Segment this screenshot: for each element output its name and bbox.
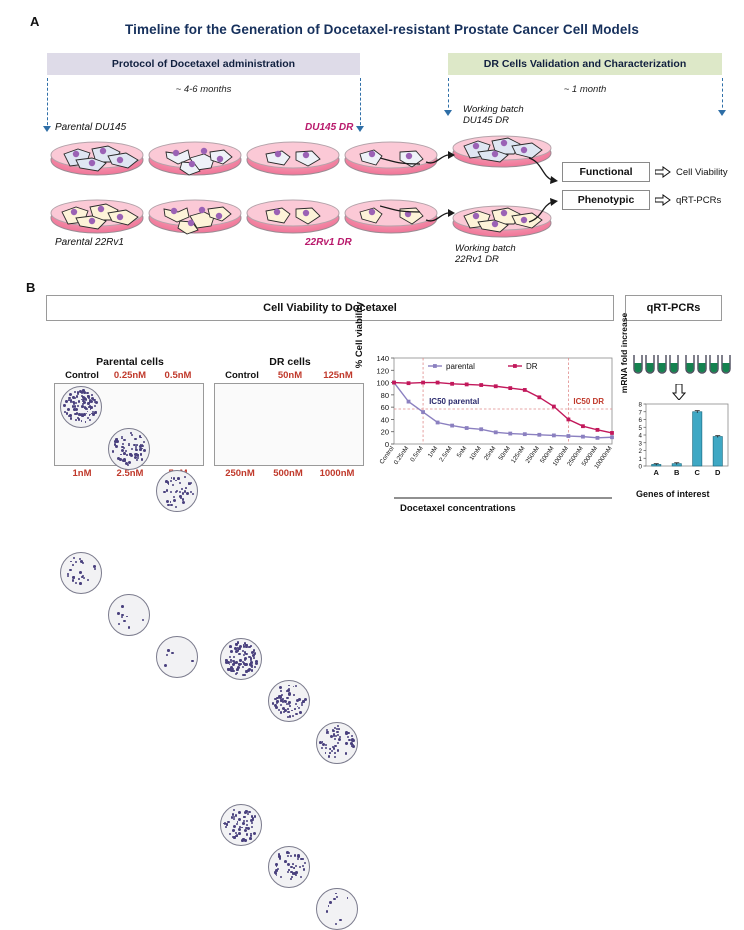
qrt-pcr-tubes-icon bbox=[630, 352, 732, 382]
group-title-dr: DR cells bbox=[218, 356, 362, 368]
svg-text:1: 1 bbox=[639, 456, 643, 463]
label-parental-bot-2: 5nM bbox=[154, 468, 202, 479]
label-dr-bot-2: 1000nM bbox=[312, 468, 362, 479]
svg-text:IC50 DR: IC50 DR bbox=[573, 397, 604, 406]
cell-viability-result: Cell Viability bbox=[676, 167, 728, 178]
colony-dish bbox=[60, 552, 102, 594]
svg-text:3: 3 bbox=[639, 440, 643, 447]
svg-text:A: A bbox=[654, 468, 660, 477]
band-protocol: Protocol of Docetaxel administration bbox=[47, 53, 360, 75]
working-batch-du145-line1: Working batch bbox=[463, 104, 524, 115]
cell-viability-chart-svg: 020406080100120140parentalDRIC50 parenta… bbox=[368, 352, 618, 517]
svg-text:80: 80 bbox=[381, 391, 389, 400]
svg-text:25nM: 25nM bbox=[483, 445, 498, 462]
section-qrt-pcrs: qRT-PCRs bbox=[625, 295, 722, 321]
label-dr-bot-1: 500nM bbox=[264, 468, 312, 479]
qrt-pcr-bar-chart: 012345678ABCD bbox=[628, 400, 734, 490]
phenotypic-fat-arrow-icon bbox=[655, 194, 671, 206]
colony-dish bbox=[316, 888, 358, 930]
flow-arrows bbox=[424, 140, 584, 240]
svg-text:125nM: 125nM bbox=[510, 445, 527, 465]
label-parental-bot-1: 2.5nM bbox=[106, 468, 154, 479]
line-chart-xlabel: Docetaxel concentrations bbox=[400, 503, 516, 514]
label-dr-bot-0: 250nM bbox=[216, 468, 264, 479]
section-cell-viability: Cell Viability to Docetaxel bbox=[46, 295, 614, 321]
qrt-pcr-result: qRT-PCRs bbox=[676, 195, 721, 206]
functional-fat-arrow-icon bbox=[655, 166, 671, 178]
band-validation: DR Cells Validation and Characterization bbox=[448, 53, 722, 75]
phenotypic-box[interactable]: Phenotypic bbox=[562, 190, 650, 210]
label-dr-top-1: 50nM bbox=[266, 370, 314, 381]
du145-dr-label: DU145 DR bbox=[305, 122, 353, 133]
svg-text:8: 8 bbox=[639, 402, 643, 409]
parental-du145-label: Parental DU145 bbox=[55, 122, 126, 133]
bar-chart-xlabel: Genes of interest bbox=[636, 489, 710, 499]
svg-text:4: 4 bbox=[639, 433, 643, 440]
svg-text:5: 5 bbox=[639, 425, 643, 432]
parental-22rv1-label: Parental 22Rv1 bbox=[55, 237, 124, 248]
plate-frame-parental bbox=[54, 383, 204, 466]
svg-text:7: 7 bbox=[639, 409, 643, 416]
cell-viability-chart: 020406080100120140parentalDRIC50 parenta… bbox=[368, 352, 618, 517]
timeline-arrow-1 bbox=[43, 126, 51, 132]
svg-text:5nM: 5nM bbox=[456, 445, 469, 459]
qrt-pcr-bar-chart-svg: 012345678ABCD bbox=[628, 400, 734, 490]
svg-text:0.25nM: 0.25nM bbox=[393, 445, 411, 466]
svg-text:B: B bbox=[674, 468, 680, 477]
working-batch-du145-label: Working batch DU145 DR bbox=[463, 104, 524, 126]
bar-chart-ylabel: mRNA fold increase bbox=[619, 308, 629, 398]
colony-dish bbox=[156, 636, 198, 678]
svg-text:2.5nM: 2.5nM bbox=[438, 445, 454, 463]
label-parental-bot-0: 1nM bbox=[58, 468, 106, 479]
label-dr-top-0: Control bbox=[218, 370, 266, 381]
colony-dish bbox=[108, 594, 150, 636]
svg-text:C: C bbox=[695, 468, 701, 477]
svg-text:IC50 parental: IC50 parental bbox=[429, 397, 479, 406]
colony-dish bbox=[316, 722, 358, 764]
svg-text:100: 100 bbox=[376, 379, 389, 388]
svg-text:2: 2 bbox=[639, 448, 643, 455]
panel-a-title: Timeline for the Generation of Docetaxel… bbox=[92, 22, 672, 37]
colony-dish bbox=[268, 680, 310, 722]
svg-text:60: 60 bbox=[381, 403, 389, 412]
panel-a-letter: A bbox=[30, 14, 39, 29]
timeline-arrow-4 bbox=[718, 110, 726, 116]
svg-text:6: 6 bbox=[639, 417, 643, 424]
timeline-dash-4 bbox=[722, 78, 723, 113]
svg-text:D: D bbox=[715, 468, 721, 477]
svg-text:0.5nM: 0.5nM bbox=[409, 445, 425, 463]
working-batch-du145-line2: DU145 DR bbox=[463, 115, 509, 126]
working-batch-22rv1-line1: Working batch bbox=[455, 243, 516, 254]
label-parental-top-0: Control bbox=[58, 370, 106, 381]
svg-text:0: 0 bbox=[639, 464, 643, 471]
colony-dish bbox=[268, 846, 310, 888]
plate-frame-dr bbox=[214, 383, 364, 466]
timeline-arrow-2 bbox=[356, 126, 364, 132]
label-parental-top-1: 0.25nM bbox=[106, 370, 154, 381]
svg-text:20: 20 bbox=[381, 428, 389, 437]
panel-b-letter: B bbox=[26, 280, 35, 295]
down-arrow-icon bbox=[672, 384, 686, 400]
svg-text:40: 40 bbox=[381, 415, 389, 424]
band-protocol-duration: ~ 4-6 months bbox=[47, 84, 360, 95]
svg-text:10nM: 10nM bbox=[468, 445, 483, 462]
svg-text:DR: DR bbox=[526, 362, 538, 371]
line-chart-ylabel: % Cell viability bbox=[354, 295, 365, 375]
functional-box[interactable]: Functional bbox=[562, 162, 650, 182]
working-batch-22rv1-label: Working batch 22Rv1 DR bbox=[455, 243, 516, 265]
svg-text:140: 140 bbox=[376, 354, 389, 363]
svg-text:1nM: 1nM bbox=[427, 445, 440, 459]
dish-to-working-connector bbox=[380, 148, 428, 226]
svg-text:parental: parental bbox=[446, 362, 475, 371]
svg-text:250nM: 250nM bbox=[524, 445, 541, 465]
group-title-parental: Parental cells bbox=[58, 356, 202, 368]
svg-text:120: 120 bbox=[376, 366, 389, 375]
timeline-dash-2 bbox=[360, 78, 361, 130]
rv1-dr-label: 22Rv1 DR bbox=[305, 237, 352, 248]
colony-dish bbox=[220, 638, 262, 680]
working-batch-22rv1-line2: 22Rv1 DR bbox=[455, 254, 499, 265]
colony-dish bbox=[220, 804, 262, 846]
label-parental-top-2: 0.5nM bbox=[154, 370, 202, 381]
timeline-arrow-3 bbox=[444, 110, 452, 116]
band-validation-duration: ~ 1 month bbox=[448, 84, 722, 95]
